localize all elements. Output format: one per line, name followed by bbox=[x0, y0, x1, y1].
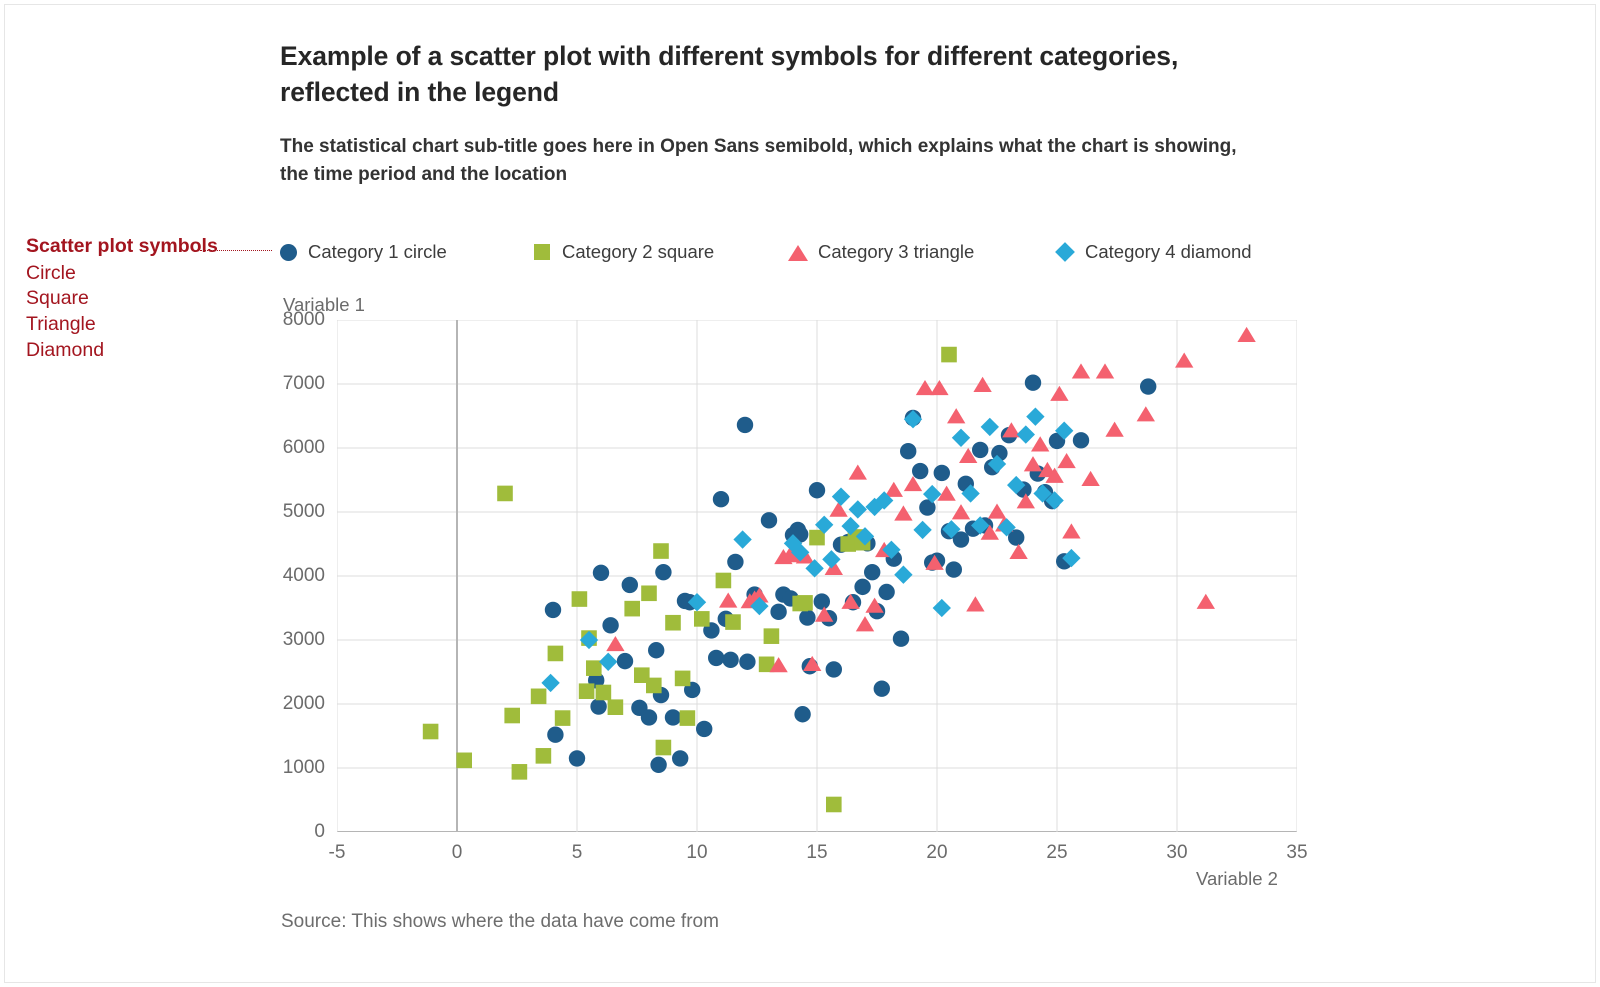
data-point-triangle[interactable] bbox=[1197, 594, 1215, 609]
data-point-square[interactable] bbox=[555, 710, 571, 726]
data-point-triangle[interactable] bbox=[849, 464, 867, 479]
data-point-diamond[interactable] bbox=[1017, 425, 1035, 443]
data-point-circle[interactable] bbox=[739, 654, 755, 670]
data-point-diamond[interactable] bbox=[822, 550, 840, 568]
x-axis-tick-label: 25 bbox=[1027, 842, 1087, 864]
page-root: Example of a scatter plot with different… bbox=[0, 0, 1600, 987]
data-point-square[interactable] bbox=[531, 689, 547, 705]
data-point-diamond[interactable] bbox=[981, 418, 999, 436]
data-point-diamond[interactable] bbox=[599, 653, 617, 671]
data-point-circle[interactable] bbox=[761, 512, 777, 528]
data-point-square[interactable] bbox=[797, 595, 813, 611]
data-point-circle[interactable] bbox=[713, 491, 729, 507]
data-point-triangle[interactable] bbox=[947, 408, 965, 423]
data-point-circle[interactable] bbox=[696, 721, 712, 737]
data-point-diamond[interactable] bbox=[1026, 407, 1044, 425]
data-point-circle[interactable] bbox=[590, 698, 606, 714]
data-point-square[interactable] bbox=[941, 347, 957, 363]
data-point-triangle[interactable] bbox=[829, 502, 847, 517]
data-point-circle[interactable] bbox=[1025, 375, 1041, 391]
data-point-diamond[interactable] bbox=[952, 429, 970, 447]
data-point-triangle[interactable] bbox=[719, 592, 737, 607]
data-point-circle[interactable] bbox=[655, 564, 671, 580]
data-point-square[interactable] bbox=[548, 646, 564, 662]
data-point-square[interactable] bbox=[641, 585, 657, 601]
data-point-square[interactable] bbox=[646, 678, 662, 694]
data-point-square[interactable] bbox=[716, 573, 732, 589]
data-point-square[interactable] bbox=[497, 486, 513, 502]
data-point-square[interactable] bbox=[572, 591, 588, 607]
data-point-circle[interactable] bbox=[946, 561, 962, 577]
data-point-circle[interactable] bbox=[672, 750, 688, 766]
x-axis-tick-label: 5 bbox=[547, 842, 607, 864]
x-axis-title: Variable 2 bbox=[1196, 868, 1278, 890]
data-point-triangle[interactable] bbox=[1237, 327, 1255, 342]
data-point-diamond[interactable] bbox=[913, 521, 931, 539]
data-point-triangle[interactable] bbox=[916, 380, 934, 395]
data-point-square[interactable] bbox=[586, 660, 602, 676]
data-point-circle[interactable] bbox=[799, 609, 815, 625]
data-point-triangle[interactable] bbox=[930, 380, 948, 395]
data-point-circle[interactable] bbox=[826, 661, 842, 677]
data-point-square[interactable] bbox=[608, 699, 624, 715]
data-point-square[interactable] bbox=[423, 724, 439, 740]
plot-area: 010002000300040005000600070008000-505101… bbox=[337, 320, 1297, 832]
data-point-circle[interactable] bbox=[617, 653, 633, 669]
data-point-square[interactable] bbox=[826, 797, 842, 813]
data-point-square[interactable] bbox=[725, 614, 741, 630]
data-point-diamond[interactable] bbox=[904, 410, 922, 428]
y-axis-tick-label: 2000 bbox=[205, 693, 325, 715]
data-point-circle[interactable] bbox=[972, 442, 988, 458]
data-point-circle[interactable] bbox=[878, 584, 894, 600]
y-axis-tick-label: 5000 bbox=[205, 501, 325, 523]
data-point-triangle[interactable] bbox=[1050, 386, 1068, 401]
data-point-circle[interactable] bbox=[622, 577, 638, 593]
data-point-diamond[interactable] bbox=[832, 487, 850, 505]
data-point-triangle[interactable] bbox=[606, 636, 624, 651]
data-point-circle[interactable] bbox=[770, 604, 786, 620]
data-point-triangle[interactable] bbox=[894, 505, 912, 520]
plot-svg bbox=[337, 320, 1297, 832]
data-point-circle[interactable] bbox=[893, 631, 909, 647]
y-axis-tick-label: 1000 bbox=[205, 757, 325, 779]
data-point-triangle[interactable] bbox=[1031, 436, 1049, 451]
data-point-circle[interactable] bbox=[900, 443, 916, 459]
data-point-triangle[interactable] bbox=[1024, 456, 1042, 471]
data-point-circle[interactable] bbox=[569, 750, 585, 766]
data-point-circle[interactable] bbox=[722, 652, 738, 668]
x-axis-tick-label: 10 bbox=[667, 842, 727, 864]
data-point-square[interactable] bbox=[512, 764, 528, 780]
data-point-circle[interactable] bbox=[650, 757, 666, 773]
data-point-circle[interactable] bbox=[854, 579, 870, 595]
data-point-circle[interactable] bbox=[641, 709, 657, 725]
data-point-square[interactable] bbox=[653, 543, 669, 559]
data-point-triangle[interactable] bbox=[966, 596, 984, 611]
data-point-triangle[interactable] bbox=[1175, 352, 1193, 367]
data-point-circle[interactable] bbox=[934, 465, 950, 481]
data-point-circle[interactable] bbox=[814, 593, 830, 609]
data-point-circle[interactable] bbox=[1140, 378, 1156, 394]
data-point-circle[interactable] bbox=[727, 554, 743, 570]
y-axis-tick-label: 3000 bbox=[205, 629, 325, 651]
data-point-triangle[interactable] bbox=[1096, 363, 1114, 378]
data-point-circle[interactable] bbox=[648, 642, 664, 658]
data-point-diamond[interactable] bbox=[849, 500, 867, 518]
data-point-diamond[interactable] bbox=[894, 566, 912, 584]
x-axis-tick-label: 20 bbox=[907, 842, 967, 864]
data-point-triangle[interactable] bbox=[1081, 471, 1099, 486]
data-point-square[interactable] bbox=[656, 740, 672, 756]
data-point-circle[interactable] bbox=[874, 680, 890, 696]
data-point-circle[interactable] bbox=[708, 650, 724, 666]
y-axis-tick-label: 7000 bbox=[205, 373, 325, 395]
data-point-triangle[interactable] bbox=[856, 616, 874, 631]
x-axis-tick-label: 0 bbox=[427, 842, 487, 864]
data-point-square[interactable] bbox=[665, 615, 681, 631]
data-point-circle[interactable] bbox=[912, 463, 928, 479]
data-point-diamond[interactable] bbox=[933, 599, 951, 617]
y-axis-tick-label: 8000 bbox=[205, 309, 325, 331]
y-axis-tick-label: 4000 bbox=[205, 565, 325, 587]
x-axis-tick-label: 15 bbox=[787, 842, 847, 864]
data-point-square[interactable] bbox=[680, 710, 696, 726]
data-point-circle[interactable] bbox=[737, 417, 753, 433]
data-point-square[interactable] bbox=[694, 611, 710, 627]
data-point-triangle[interactable] bbox=[1105, 422, 1123, 437]
data-point-square[interactable] bbox=[579, 683, 595, 699]
scatter-chart: Variable 1 Variable 2 010002000300040005… bbox=[0, 0, 1600, 987]
data-point-triangle[interactable] bbox=[988, 504, 1006, 519]
data-point-square[interactable] bbox=[624, 601, 640, 617]
data-point-circle[interactable] bbox=[809, 482, 825, 498]
y-axis-tick-label: 6000 bbox=[205, 437, 325, 459]
data-point-square[interactable] bbox=[504, 708, 520, 724]
data-point-circle[interactable] bbox=[794, 706, 810, 722]
data-point-square[interactable] bbox=[764, 628, 780, 644]
data-point-circle[interactable] bbox=[1073, 432, 1089, 448]
data-point-square[interactable] bbox=[596, 685, 612, 701]
series-square bbox=[423, 347, 957, 813]
x-axis-tick-label: 35 bbox=[1267, 842, 1327, 864]
data-point-circle[interactable] bbox=[547, 727, 563, 743]
data-point-triangle[interactable] bbox=[1072, 363, 1090, 378]
source-note: Source: This shows where the data have c… bbox=[281, 911, 719, 933]
data-point-triangle[interactable] bbox=[1009, 544, 1027, 559]
data-point-circle[interactable] bbox=[545, 602, 561, 618]
data-point-triangle[interactable] bbox=[1137, 406, 1155, 421]
x-axis-tick-label: 30 bbox=[1147, 842, 1207, 864]
data-point-square[interactable] bbox=[675, 671, 691, 687]
data-point-circle[interactable] bbox=[602, 617, 618, 633]
data-point-diamond[interactable] bbox=[733, 530, 751, 548]
y-axis-tick-label: 0 bbox=[205, 821, 325, 843]
data-point-triangle[interactable] bbox=[1062, 523, 1080, 538]
x-axis-tick-label: -5 bbox=[307, 842, 367, 864]
data-point-square[interactable] bbox=[536, 748, 552, 764]
data-point-triangle[interactable] bbox=[1057, 453, 1075, 468]
data-point-circle[interactable] bbox=[593, 565, 609, 581]
data-point-circle[interactable] bbox=[665, 709, 681, 725]
data-point-square[interactable] bbox=[456, 753, 472, 769]
data-point-circle[interactable] bbox=[864, 564, 880, 580]
